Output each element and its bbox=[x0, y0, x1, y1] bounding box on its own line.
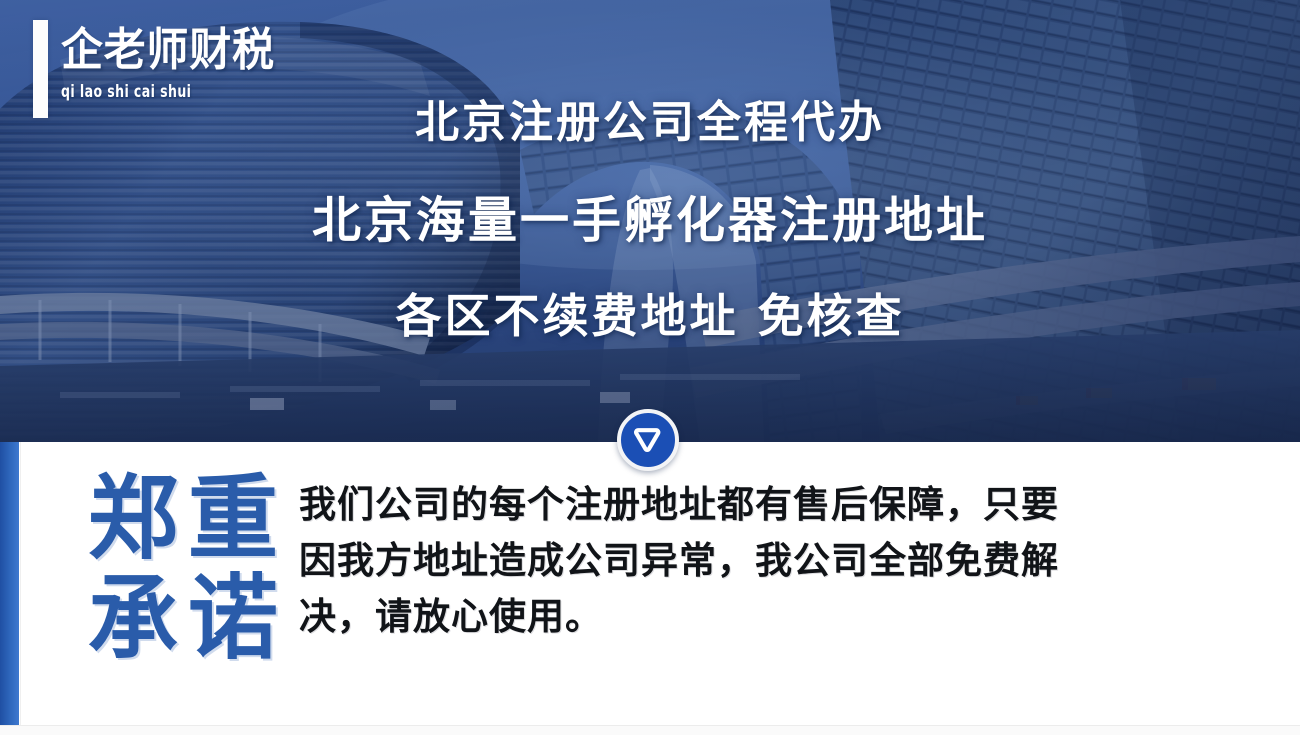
promise-body-line-1: 我们公司的每个注册地址都有售后保障，只要 bbox=[299, 476, 1227, 532]
headline-line-3: 各区不续费地址 免核查 bbox=[0, 288, 1300, 344]
promise-body-line-3: 决，请放心使用。 bbox=[299, 588, 1227, 644]
promise-body-block: 我们公司的每个注册地址都有售后保障，只要 因我方地址造成公司异常，我公司全部免费… bbox=[251, 442, 1297, 644]
promise-char-1: 郑 bbox=[85, 470, 181, 568]
headline-line-1: 北京注册公司全程代办 bbox=[0, 96, 1300, 150]
scroll-down-button[interactable] bbox=[617, 409, 679, 471]
promise-char-4: 诺 bbox=[185, 570, 281, 668]
panel-footer-divider bbox=[0, 725, 1300, 735]
promise-char-3: 承 bbox=[85, 570, 181, 668]
panel-accent-bar bbox=[0, 442, 19, 725]
hero-banner: 企老师财税 qi lao shi cai shui 北京注册公司全程代办 北京海… bbox=[0, 0, 1300, 442]
promise-title-block: 郑 重 承 诺 bbox=[21, 442, 251, 668]
promise-body-line-2: 因我方地址造成公司异常，我公司全部免费解 bbox=[299, 532, 1227, 588]
headline-line-2: 北京海量一手孵化器注册地址 bbox=[0, 190, 1300, 250]
hero-headline-group: 北京注册公司全程代办 北京海量一手孵化器注册地址 各区不续费地址 免核查 bbox=[0, 96, 1300, 344]
triangle-down-icon bbox=[633, 427, 663, 453]
promise-panel: 郑 重 承 诺 我们公司的每个注册地址都有售后保障，只要 因我方地址造成公司异常… bbox=[0, 442, 1300, 735]
brand-name-cn: 企老师财税 bbox=[61, 24, 275, 76]
promise-char-2: 重 bbox=[185, 470, 281, 568]
landing-page: 企老师财税 qi lao shi cai shui 北京注册公司全程代办 北京海… bbox=[0, 0, 1300, 735]
